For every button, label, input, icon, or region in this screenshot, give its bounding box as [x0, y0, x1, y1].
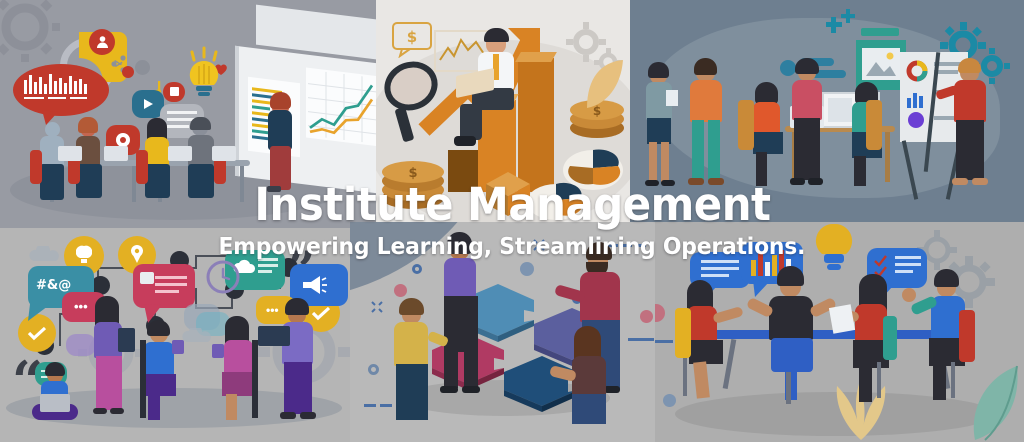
laptop-icon: [40, 394, 70, 412]
coin-stack-icon: $: [380, 150, 446, 210]
speech-bubble-icon: [66, 334, 96, 356]
laptop-icon: [212, 146, 236, 161]
pie-chart-icon: [526, 176, 586, 222]
bar-chart-bar: [448, 150, 478, 192]
panel-meeting-brainstorm: [655, 222, 1024, 442]
leaf-icon: [581, 58, 627, 112]
panel-financial-growth: $: [376, 0, 630, 222]
speech-bubble-icon: [133, 264, 195, 308]
hashtag-icon: #&@: [36, 278, 71, 293]
dot-decoration-icon: [520, 262, 534, 276]
image-placeholder-icon: [861, 28, 899, 36]
leaf-icon: [965, 362, 1024, 442]
gear-icon: [0, 0, 60, 62]
panel-team-collaboration: [630, 0, 1024, 222]
laptop-icon: [58, 146, 82, 161]
dot-decoration-icon: [368, 364, 379, 375]
panel-puzzle-teamwork: [350, 222, 655, 442]
laptop-icon: [258, 326, 290, 346]
clock-icon: [135, 60, 150, 75]
illustration-collage: $: [0, 0, 1024, 442]
panel-classroom-training: [0, 0, 376, 228]
line-chart-icon: [308, 70, 376, 145]
dot-decoration-icon: [640, 310, 653, 323]
dot-decoration-icon: [412, 264, 422, 274]
bar-chart-icon: [906, 88, 928, 108]
donut-chart-icon: [906, 60, 928, 82]
institute-management-hero-banner: $: [0, 0, 1024, 442]
svg-text:$: $: [408, 166, 417, 181]
bar-chart-icon: [22, 72, 92, 104]
dot-decoration-icon: [394, 284, 407, 297]
location-pin-icon: [122, 66, 134, 82]
lightbulb-icon: [810, 222, 858, 276]
laptop-icon: [168, 146, 192, 161]
dash-decoration-icon: [364, 404, 376, 407]
clock-icon: [206, 260, 240, 294]
panel-communication-network: “ ”: [0, 228, 350, 442]
dash-decoration-icon: [628, 338, 654, 341]
lightbulb-icon: [180, 46, 228, 106]
laptop-icon: [104, 146, 128, 161]
